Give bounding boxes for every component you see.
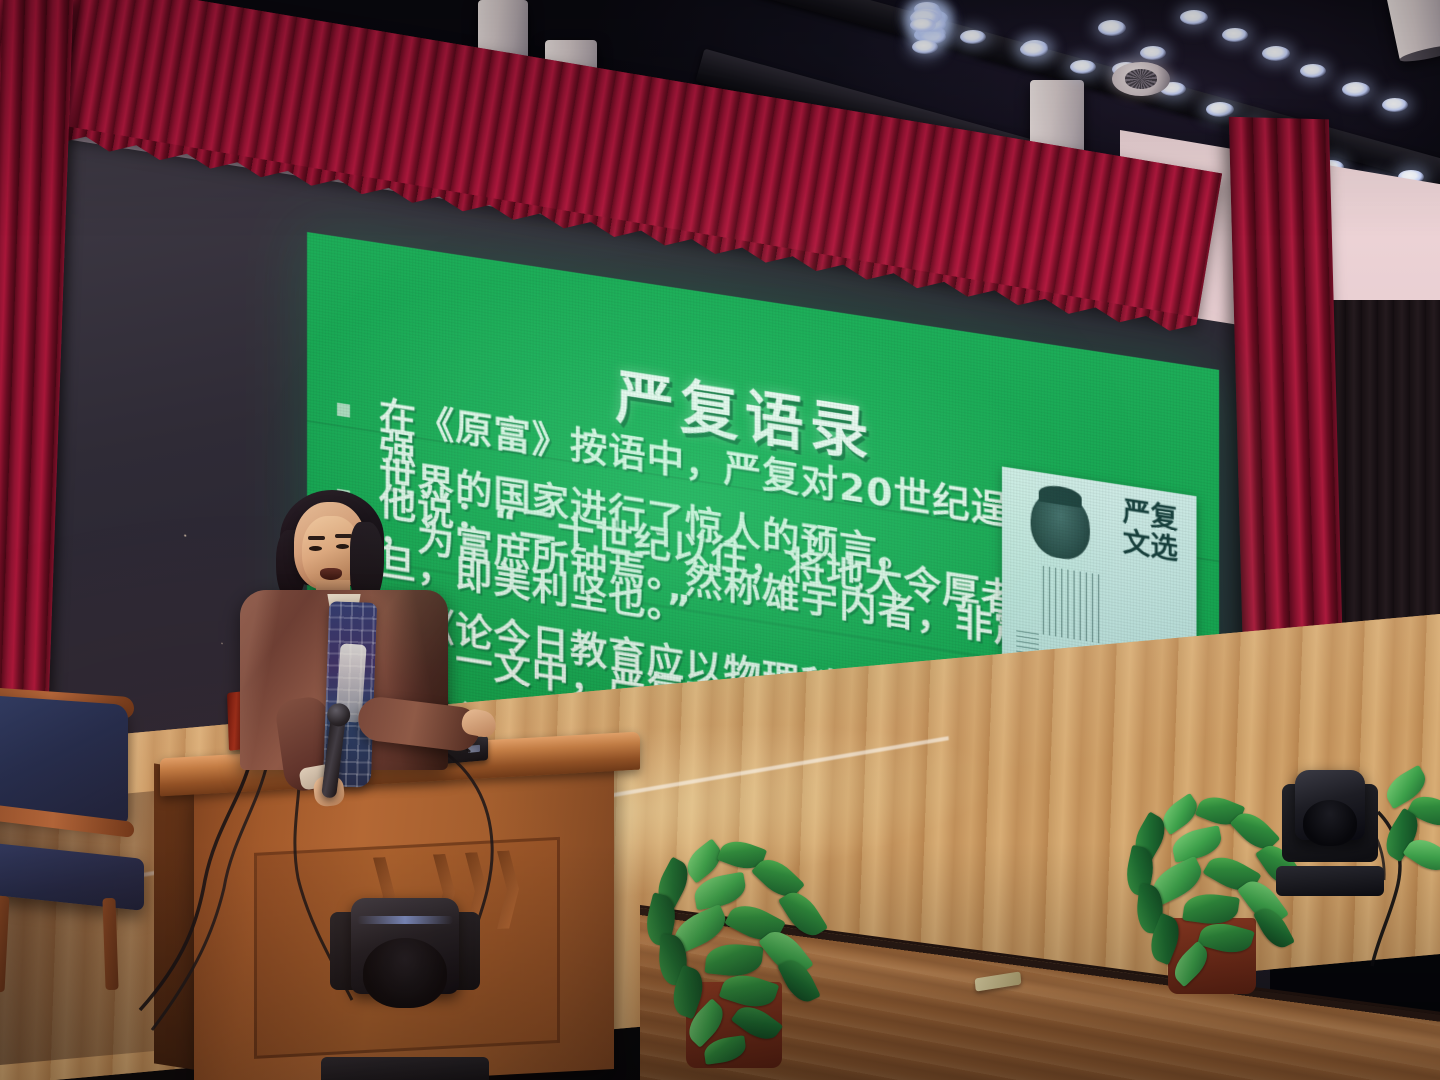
moving-head-light-left — [330, 898, 480, 1073]
presenter — [232, 494, 482, 784]
spot-lamp — [1382, 98, 1408, 112]
spot-lamp — [1180, 10, 1208, 25]
potted-plant-far-right — [1378, 770, 1440, 890]
armchair — [0, 700, 166, 1000]
spot-lamp — [1262, 46, 1290, 61]
spot-lamp — [1140, 46, 1166, 60]
potted-plant-left — [628, 842, 848, 1072]
spot-lamp — [1206, 102, 1234, 117]
auditorium-scene: 严复语录 在《原富》按语中，严复对20世纪逞强 世界的国家进行了惊人的预言。 他… — [0, 0, 1440, 1080]
book-blurb-text — [1043, 566, 1100, 644]
spot-lamp — [1300, 64, 1326, 78]
square-bullet-icon — [337, 403, 350, 418]
spot-lamp — [912, 40, 938, 54]
spot-lamp — [1070, 60, 1096, 74]
spot-lamp — [960, 30, 986, 44]
yan-fu-portrait-icon — [1031, 487, 1090, 563]
par-can-fixture — [1112, 62, 1170, 96]
spot-lamp — [1222, 28, 1248, 42]
spot-lamp — [1020, 42, 1048, 57]
spot-lamp — [910, 18, 936, 32]
book-title: 严复文选 — [1121, 497, 1180, 567]
moving-head-light-right — [1282, 770, 1378, 882]
spot-lamp — [1098, 20, 1126, 36]
spot-lamp — [1342, 82, 1370, 97]
